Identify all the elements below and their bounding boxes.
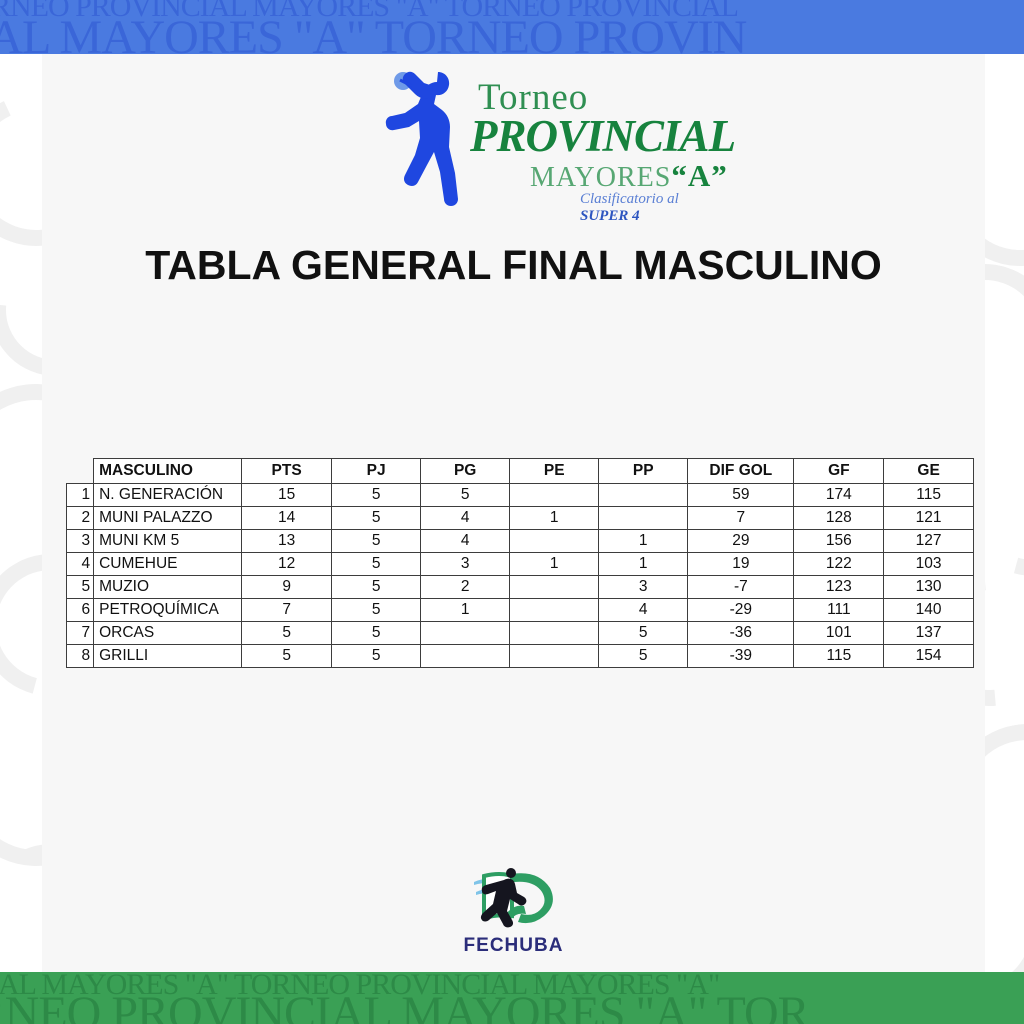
fechuba-label: FECHUBA	[42, 935, 985, 957]
cell-ge: 140	[884, 599, 974, 622]
cell-ge: 127	[884, 530, 974, 553]
table-header-row: MASCULINO PTS PJ PG PE PP DIF GOL GF GE	[67, 459, 974, 484]
cell-pg: 5	[421, 484, 510, 507]
standings-table-body: 1N. GENERACIÓN1555591741152MUNI PALAZZO1…	[67, 484, 974, 668]
cell-pj: 5	[332, 576, 421, 599]
cell-rank: 8	[67, 645, 94, 668]
cell-pp	[599, 507, 688, 530]
cell-pg: 4	[421, 530, 510, 553]
cell-dif-gol: -36	[688, 622, 794, 645]
cell-pg: 2	[421, 576, 510, 599]
header-pts: PTS	[241, 459, 331, 484]
logo-category-a: “A”	[671, 158, 727, 193]
tournament-logo: Torneo PROVINCIAL MAYORES“A” Clasificato…	[342, 60, 722, 215]
cell-gf: 156	[794, 530, 884, 553]
header-rank-blank	[67, 459, 94, 484]
cell-rank: 2	[67, 507, 94, 530]
cell-pe	[510, 530, 599, 553]
cell-pts: 5	[241, 645, 331, 668]
cell-pts: 12	[241, 553, 331, 576]
cell-pp: 5	[599, 622, 688, 645]
page-title: TABLA GENERAL FINAL MASCULINO	[42, 242, 985, 289]
table-row: 8GRILLI555-39115154	[67, 645, 974, 668]
cell-pp: 1	[599, 553, 688, 576]
cell-rank: 5	[67, 576, 94, 599]
logo-clasificatorio-text: Clasificatorio al	[580, 191, 679, 207]
table-row: 1N. GENERACIÓN155559174115	[67, 484, 974, 507]
logo-mayores-text: MAYORES	[530, 162, 671, 193]
cell-team: CUMEHUE	[94, 553, 242, 576]
header-gf: GF	[794, 459, 884, 484]
cell-team: MUNI PALAZZO	[94, 507, 242, 530]
cell-team: MUNI KM 5	[94, 530, 242, 553]
cell-pj: 5	[332, 553, 421, 576]
cell-dif-gol: 7	[688, 507, 794, 530]
fechuba-logo-icon	[468, 866, 560, 928]
cell-pj: 5	[332, 507, 421, 530]
cell-gf: 111	[794, 599, 884, 622]
cell-pj: 5	[332, 622, 421, 645]
cell-pe	[510, 622, 599, 645]
cell-gf: 174	[794, 484, 884, 507]
cell-team: PETROQUÍMICA	[94, 599, 242, 622]
header-dif-gol: DIF GOL	[688, 459, 794, 484]
table-row: 5MUZIO9523-7123130	[67, 576, 974, 599]
cell-ge: 115	[884, 484, 974, 507]
cell-pg: 3	[421, 553, 510, 576]
cell-pe	[510, 576, 599, 599]
cell-pe	[510, 484, 599, 507]
bottom-decorative-band: ROVINCIAL MAYORES "A" TORNEO PROVINCIAL …	[0, 972, 1024, 1024]
logo-mayores-line: MAYORES“A”	[530, 158, 728, 194]
cell-dif-gol: -7	[688, 576, 794, 599]
top-band-text-row-b: VINCIAL MAYORES "A" TORNEO PROVIN	[0, 14, 746, 54]
cell-pp: 3	[599, 576, 688, 599]
cell-rank: 4	[67, 553, 94, 576]
cell-rank: 7	[67, 622, 94, 645]
standings-table: MASCULINO PTS PJ PG PE PP DIF GOL GF GE …	[66, 458, 974, 668]
cell-gf: 122	[794, 553, 884, 576]
cell-pp: 1	[599, 530, 688, 553]
cell-pg	[421, 645, 510, 668]
cell-pts: 7	[241, 599, 331, 622]
cell-ge: 137	[884, 622, 974, 645]
cell-pg: 1	[421, 599, 510, 622]
logo-provincial-text: PROVINCIAL	[470, 110, 735, 162]
cell-pp: 4	[599, 599, 688, 622]
header-pj: PJ	[332, 459, 421, 484]
logo-clasificatorio-line: Clasificatorio al SUPER 4	[580, 191, 720, 225]
cell-pts: 13	[241, 530, 331, 553]
top-decorative-band: S A TORNEO PROVINCIAL MAYORES "A" TORNEO…	[0, 0, 1024, 54]
table-row: 4CUMEHUE12531119122103	[67, 553, 974, 576]
cell-pp	[599, 484, 688, 507]
table-row: 6PETROQUÍMICA7514-29111140	[67, 599, 974, 622]
header-pe: PE	[510, 459, 599, 484]
cell-pe: 1	[510, 507, 599, 530]
table-row: 3MUNI KM 51354129156127	[67, 530, 974, 553]
cell-ge: 154	[884, 645, 974, 668]
cell-team: GRILLI	[94, 645, 242, 668]
header-pg: PG	[421, 459, 510, 484]
cell-ge: 121	[884, 507, 974, 530]
table-row: 2MUNI PALAZZO145417128121	[67, 507, 974, 530]
cell-gf: 123	[794, 576, 884, 599]
content-panel: Torneo PROVINCIAL MAYORES“A” Clasificato…	[42, 54, 985, 972]
table-row: 7ORCAS555-36101137	[67, 622, 974, 645]
cell-pp: 5	[599, 645, 688, 668]
cell-rank: 3	[67, 530, 94, 553]
cell-pj: 5	[332, 530, 421, 553]
cell-team: MUZIO	[94, 576, 242, 599]
cell-gf: 115	[794, 645, 884, 668]
cell-pe: 1	[510, 553, 599, 576]
logo-super4-text: SUPER 4	[580, 208, 640, 224]
cell-dif-gol: 29	[688, 530, 794, 553]
cell-pe	[510, 645, 599, 668]
cell-gf: 101	[794, 622, 884, 645]
cell-dif-gol: -39	[688, 645, 794, 668]
cell-pts: 9	[241, 576, 331, 599]
cell-dif-gol: 59	[688, 484, 794, 507]
cell-pg: 4	[421, 507, 510, 530]
cell-pj: 5	[332, 484, 421, 507]
cell-gf: 128	[794, 507, 884, 530]
cell-pts: 15	[241, 484, 331, 507]
cell-dif-gol: 19	[688, 553, 794, 576]
cell-pts: 14	[241, 507, 331, 530]
cell-rank: 1	[67, 484, 94, 507]
cell-pe	[510, 599, 599, 622]
cell-pts: 5	[241, 622, 331, 645]
header-team: MASCULINO	[94, 459, 242, 484]
cell-team: ORCAS	[94, 622, 242, 645]
cell-pj: 5	[332, 599, 421, 622]
cell-pg	[421, 622, 510, 645]
cell-ge: 130	[884, 576, 974, 599]
standings-table-container: MASCULINO PTS PJ PG PE PP DIF GOL GF GE …	[66, 458, 974, 668]
cell-dif-gol: -29	[688, 599, 794, 622]
logo-wordmark: Torneo PROVINCIAL MAYORES“A” Clasificato…	[470, 60, 720, 215]
cell-ge: 103	[884, 553, 974, 576]
cell-team: N. GENERACIÓN	[94, 484, 242, 507]
bottom-band-text-row-b: ORNEO PROVINCIAL MAYORES "A" TOR	[0, 990, 809, 1024]
cell-rank: 6	[67, 599, 94, 622]
cell-pj: 5	[332, 645, 421, 668]
fechuba-footer: FECHUBA	[42, 866, 985, 957]
header-pp: PP	[599, 459, 688, 484]
header-ge: GE	[884, 459, 974, 484]
